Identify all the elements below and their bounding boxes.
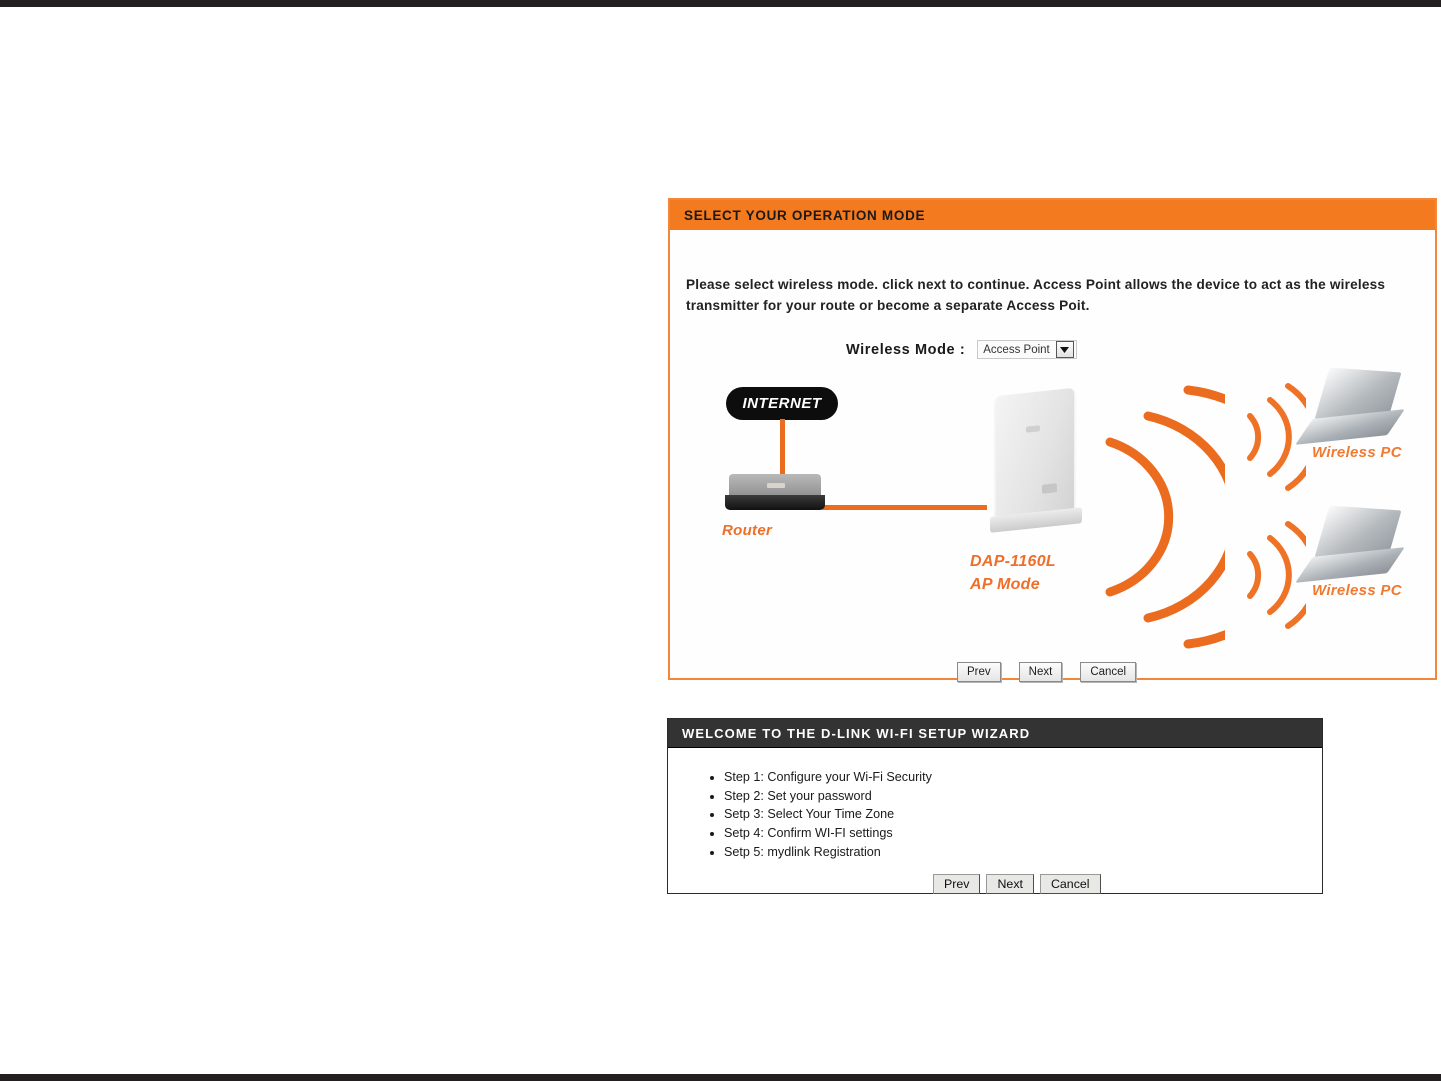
next-button[interactable]: Next — [986, 874, 1033, 894]
router-label: Router — [722, 522, 772, 539]
access-point-brand-mark — [1042, 483, 1057, 494]
welcome-wizard-title: WELCOME TO THE D-LINK WI-FI SETUP WIZARD — [682, 726, 1030, 741]
access-point-device-icon — [986, 392, 1090, 544]
welcome-wizard-header: WELCOME TO THE D-LINK WI-FI SETUP WIZARD — [668, 719, 1322, 748]
internet-label: INTERNET — [743, 395, 822, 412]
page-top-rule — [0, 0, 1441, 7]
access-point-mode-name: AP Mode — [970, 573, 1056, 596]
network-topology-diagram: INTERNET Router DAP-1160L AP Mode — [670, 362, 1435, 672]
router-to-ap-cable — [822, 505, 987, 510]
list-item: Setp 3: Select Your Time Zone — [724, 805, 932, 824]
wireless-mode-row: Wireless Mode : Access Point — [846, 340, 1077, 359]
internet-cloud-icon: INTERNET — [726, 387, 838, 420]
wifi-signal-waves-bottom-icon — [1236, 512, 1306, 637]
access-point-body — [996, 388, 1074, 524]
wireless-mode-select[interactable]: Access Point — [977, 340, 1076, 359]
router-icon — [725, 474, 825, 516]
router-led — [767, 483, 785, 488]
operation-mode-description: Please select wireless mode. click next … — [686, 274, 1408, 316]
list-item: Step 1: Configure your Wi-Fi Security — [724, 768, 932, 787]
operation-mode-body: Please select wireless mode. click next … — [670, 230, 1435, 678]
access-point-model-name: DAP-1160L — [970, 550, 1056, 573]
wireless-pc-bottom-label: Wireless PC — [1312, 582, 1402, 599]
operation-mode-header: SELECT YOUR OPERATION MODE — [670, 200, 1435, 230]
internet-to-router-cable — [780, 419, 785, 481]
operation-mode-panel: SELECT YOUR OPERATION MODE Please select… — [668, 198, 1437, 680]
welcome-wizard-body: Step 1: Configure your Wi-Fi Security St… — [668, 748, 1322, 893]
cancel-button[interactable]: Cancel — [1040, 874, 1101, 894]
operation-mode-title: SELECT YOUR OPERATION MODE — [684, 208, 925, 223]
wireless-pc-top-label: Wireless PC — [1312, 444, 1402, 461]
wifi-signal-waves-top-icon — [1236, 374, 1306, 499]
access-point-label: DAP-1160L AP Mode — [970, 550, 1056, 596]
wifi-broadcast-waves-icon — [1100, 372, 1225, 662]
laptop-keyboard — [1295, 409, 1405, 445]
list-item: Step 2: Set your password — [724, 787, 932, 806]
wireless-mode-label: Wireless Mode : — [846, 342, 965, 358]
welcome-wizard-panel: WELCOME TO THE D-LINK WI-FI SETUP WIZARD… — [667, 718, 1323, 894]
router-front-panel — [725, 495, 825, 510]
list-item: Setp 4: Confirm WI-FI settings — [724, 824, 932, 843]
chevron-down-icon[interactable] — [1056, 341, 1074, 358]
operation-mode-button-row: Prev Next Cancel — [957, 662, 1136, 682]
wireless-pc-top-icon: Wireless PC — [1300, 370, 1410, 456]
wireless-pc-bottom-icon: Wireless PC — [1300, 508, 1410, 594]
wizard-step-list: Step 1: Configure your Wi-Fi Security St… — [702, 768, 932, 861]
welcome-wizard-button-row: Prev Next Cancel — [933, 874, 1101, 894]
prev-button[interactable]: Prev — [957, 662, 1001, 682]
wireless-mode-selected-value: Access Point — [983, 344, 1055, 356]
page-bottom-rule — [0, 1074, 1441, 1081]
cancel-button[interactable]: Cancel — [1080, 662, 1136, 682]
list-item: Setp 5: mydlink Registration — [724, 843, 932, 862]
next-button[interactable]: Next — [1019, 662, 1063, 682]
laptop-keyboard — [1295, 547, 1405, 583]
prev-button[interactable]: Prev — [933, 874, 980, 894]
